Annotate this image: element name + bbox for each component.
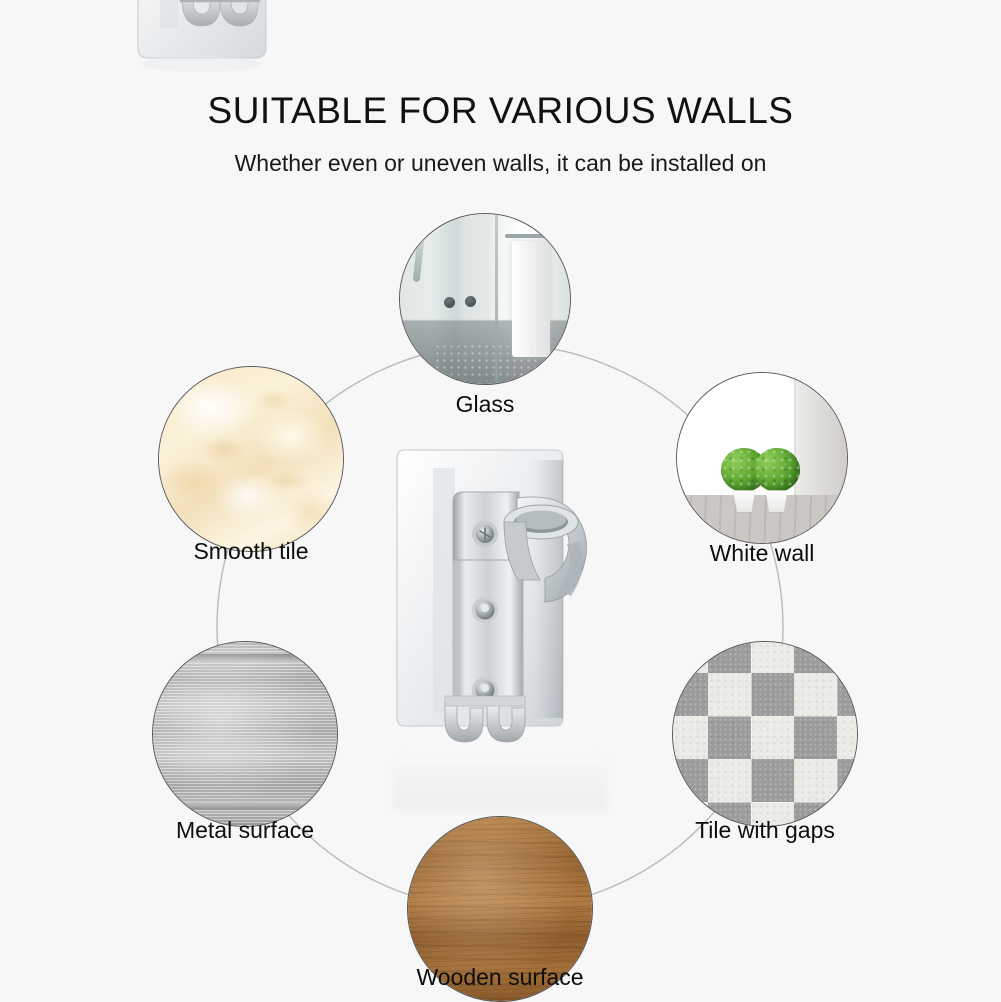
metal-surface-circle-image bbox=[152, 641, 338, 827]
top-product-crop-image bbox=[120, 0, 290, 88]
surface-label-wooden-surface: Wooden surface bbox=[330, 964, 670, 991]
page-subtitle: Whether even or uneven walls, it can be … bbox=[0, 150, 1001, 177]
surface-label-smooth-tile: Smooth tile bbox=[81, 538, 421, 565]
surface-label-tile-with-gaps: Tile with gaps bbox=[595, 817, 935, 844]
tile-with-gaps-circle-image bbox=[672, 641, 858, 827]
product-image bbox=[381, 440, 631, 760]
surface-label-white-wall: White wall bbox=[592, 540, 932, 567]
surface-label-metal-surface: Metal surface bbox=[75, 817, 415, 844]
surface-label-glass: Glass bbox=[315, 391, 655, 418]
smooth-tile-circle-image bbox=[158, 366, 344, 552]
glass-circle-image bbox=[399, 213, 571, 385]
infographic-stage: SUITABLE FOR VARIOUS WALLS Whether even … bbox=[0, 0, 1001, 1001]
product-reflection bbox=[393, 752, 608, 810]
white-wall-circle-image bbox=[676, 372, 848, 544]
page-title: SUITABLE FOR VARIOUS WALLS bbox=[0, 90, 1001, 132]
